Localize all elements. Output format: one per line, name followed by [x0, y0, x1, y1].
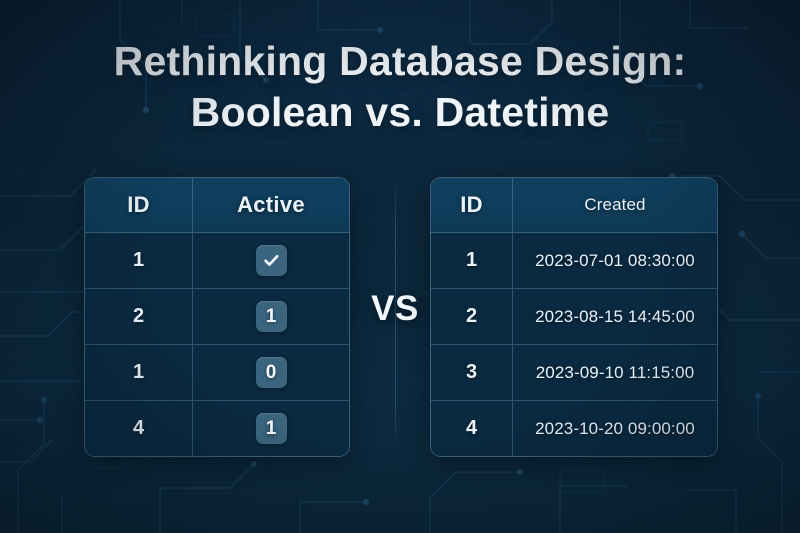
boolean-value-badge: 1: [256, 301, 287, 332]
table-row: 1: [85, 233, 349, 289]
table-row: 4 2023-10-20 09:00:00: [431, 401, 717, 456]
table-row: 2 2023-08-15 14:45:00: [431, 289, 717, 345]
boolean-value-badge: 1: [256, 413, 287, 444]
cell-created: 2023-08-15 14:45:00: [513, 289, 717, 344]
boolean-table: ID Active 1 2 1 1 0: [84, 177, 350, 457]
cell-id: 4: [85, 401, 193, 456]
cell-active: [193, 233, 349, 288]
cell-id: 1: [85, 345, 193, 400]
cell-id: 2: [85, 289, 193, 344]
cell-active: 1: [193, 289, 349, 344]
table-row: 1 2023-07-01 08:30:00: [431, 233, 717, 289]
table-header-row: ID Active: [85, 178, 349, 233]
cell-id: 2: [431, 289, 513, 344]
cell-active: 1: [193, 401, 349, 456]
table-row: 4 1: [85, 401, 349, 456]
table-header-row: ID Created: [431, 178, 717, 233]
cell-active: 0: [193, 345, 349, 400]
cell-created: 2023-07-01 08:30:00: [513, 233, 717, 288]
table-row: 1 0: [85, 345, 349, 401]
page-title: Rethinking Database Design: Boolean vs. …: [0, 36, 800, 138]
column-header-created: Created: [513, 178, 717, 232]
cell-id: 1: [85, 233, 193, 288]
cell-created: 2023-10-20 09:00:00: [513, 401, 717, 456]
cell-created: 2023-09-10 11:15:00: [513, 345, 717, 400]
checkbox-checked-badge: [256, 245, 287, 276]
column-header-id: ID: [85, 178, 193, 232]
boolean-value-badge: 0: [256, 357, 287, 388]
table-row: 3 2023-09-10 11:15:00: [431, 345, 717, 401]
slide-canvas: Rethinking Database Design: Boolean vs. …: [0, 0, 800, 533]
cell-id: 3: [431, 345, 513, 400]
vs-label: VS: [348, 289, 442, 329]
datetime-table: ID Created 1 2023-07-01 08:30:00 2 2023-…: [430, 177, 718, 457]
column-header-id: ID: [431, 178, 513, 232]
column-header-active: Active: [193, 178, 349, 232]
cell-id: 4: [431, 401, 513, 456]
cell-id: 1: [431, 233, 513, 288]
table-row: 2 1: [85, 289, 349, 345]
